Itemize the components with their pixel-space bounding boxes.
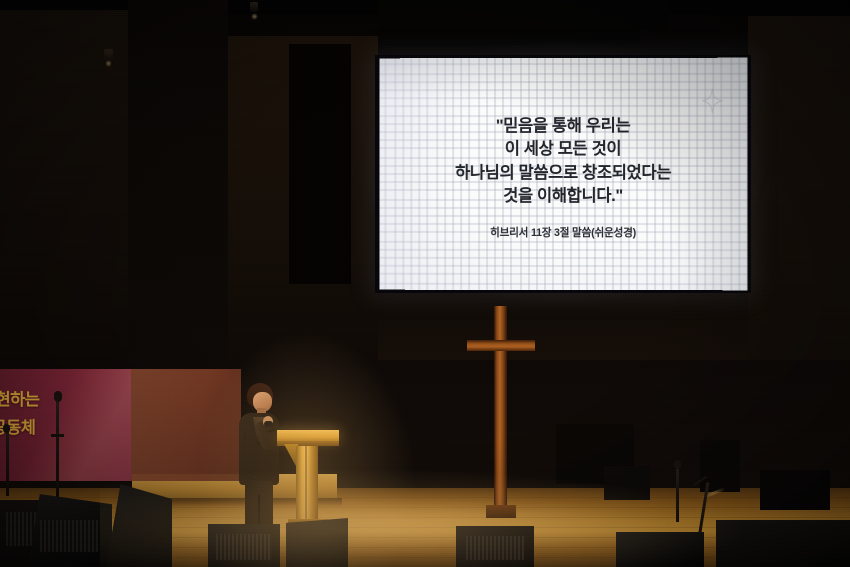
speaker-at-podium	[236, 383, 282, 535]
ceiling-light-icon	[250, 2, 258, 12]
wall-panel-left-inner	[128, 0, 228, 395]
ceiling-soffit	[378, 0, 668, 46]
quote-line-3: 하나님의 말씀으로 창조되었다는	[455, 161, 671, 185]
slide-surface: "믿음을 통해 우리는 이 세상 모든 것이 하나님의 말씀으로 창조되었다는 …	[379, 58, 747, 291]
stage-monitor-right	[616, 532, 704, 567]
quote-line-4: 것을 이해합니다."	[455, 185, 671, 209]
wooden-cross-vertical	[494, 306, 507, 518]
stage-monitor-left-grille	[40, 520, 98, 552]
projection-screen: "믿음을 통해 우리는 이 세상 모든 것이 하나님의 말씀으로 창조되었다는 …	[375, 55, 751, 293]
wall-panel-left	[0, 10, 128, 390]
quote-line-2: 이 세상 모든 것이	[455, 138, 671, 162]
scripture-attribution: 히브리서 11장 3절 말씀(쉬운성경)	[490, 224, 636, 239]
equipment-foreground-right	[716, 520, 850, 567]
stage-monitor-center-grille	[216, 534, 272, 560]
stage-monitor-right-center-grille	[466, 536, 524, 560]
stage-banner: 를 실현하는 제자 공동체	[0, 369, 131, 481]
wooden-cross-base	[486, 505, 516, 518]
sparkle-icon	[701, 88, 723, 114]
wall-recess-slot	[289, 44, 351, 284]
wooden-podium-column	[296, 446, 318, 522]
stage-photograph: "믿음을 통해 우리는 이 세상 모든 것이 하나님의 말씀으로 창조되었다는 …	[0, 0, 850, 567]
scripture-quote: "믿음을 통해 우리는 이 세상 모든 것이 하나님의 말씀으로 창조되었다는 …	[455, 114, 671, 208]
quote-line-1: "믿음을 통해 우리는	[455, 114, 671, 138]
equipment-silhouette-d	[760, 470, 830, 510]
banner-side-wall	[131, 369, 241, 481]
wooden-podium-grain	[305, 446, 307, 522]
equipment-silhouette-b	[604, 466, 650, 500]
spotlight-fixture-icon	[104, 49, 113, 65]
wall-panel-right	[748, 16, 850, 416]
banner-line-1: 를 실현하는	[0, 385, 39, 415]
microphone-cable	[244, 431, 257, 478]
stage-monitor-podium	[286, 518, 348, 567]
slide-content: "믿음을 통해 우리는 이 세상 모든 것이 하나님의 말씀으로 창조되었다는 …	[379, 58, 747, 291]
wooden-cross-crossbar	[467, 340, 535, 351]
